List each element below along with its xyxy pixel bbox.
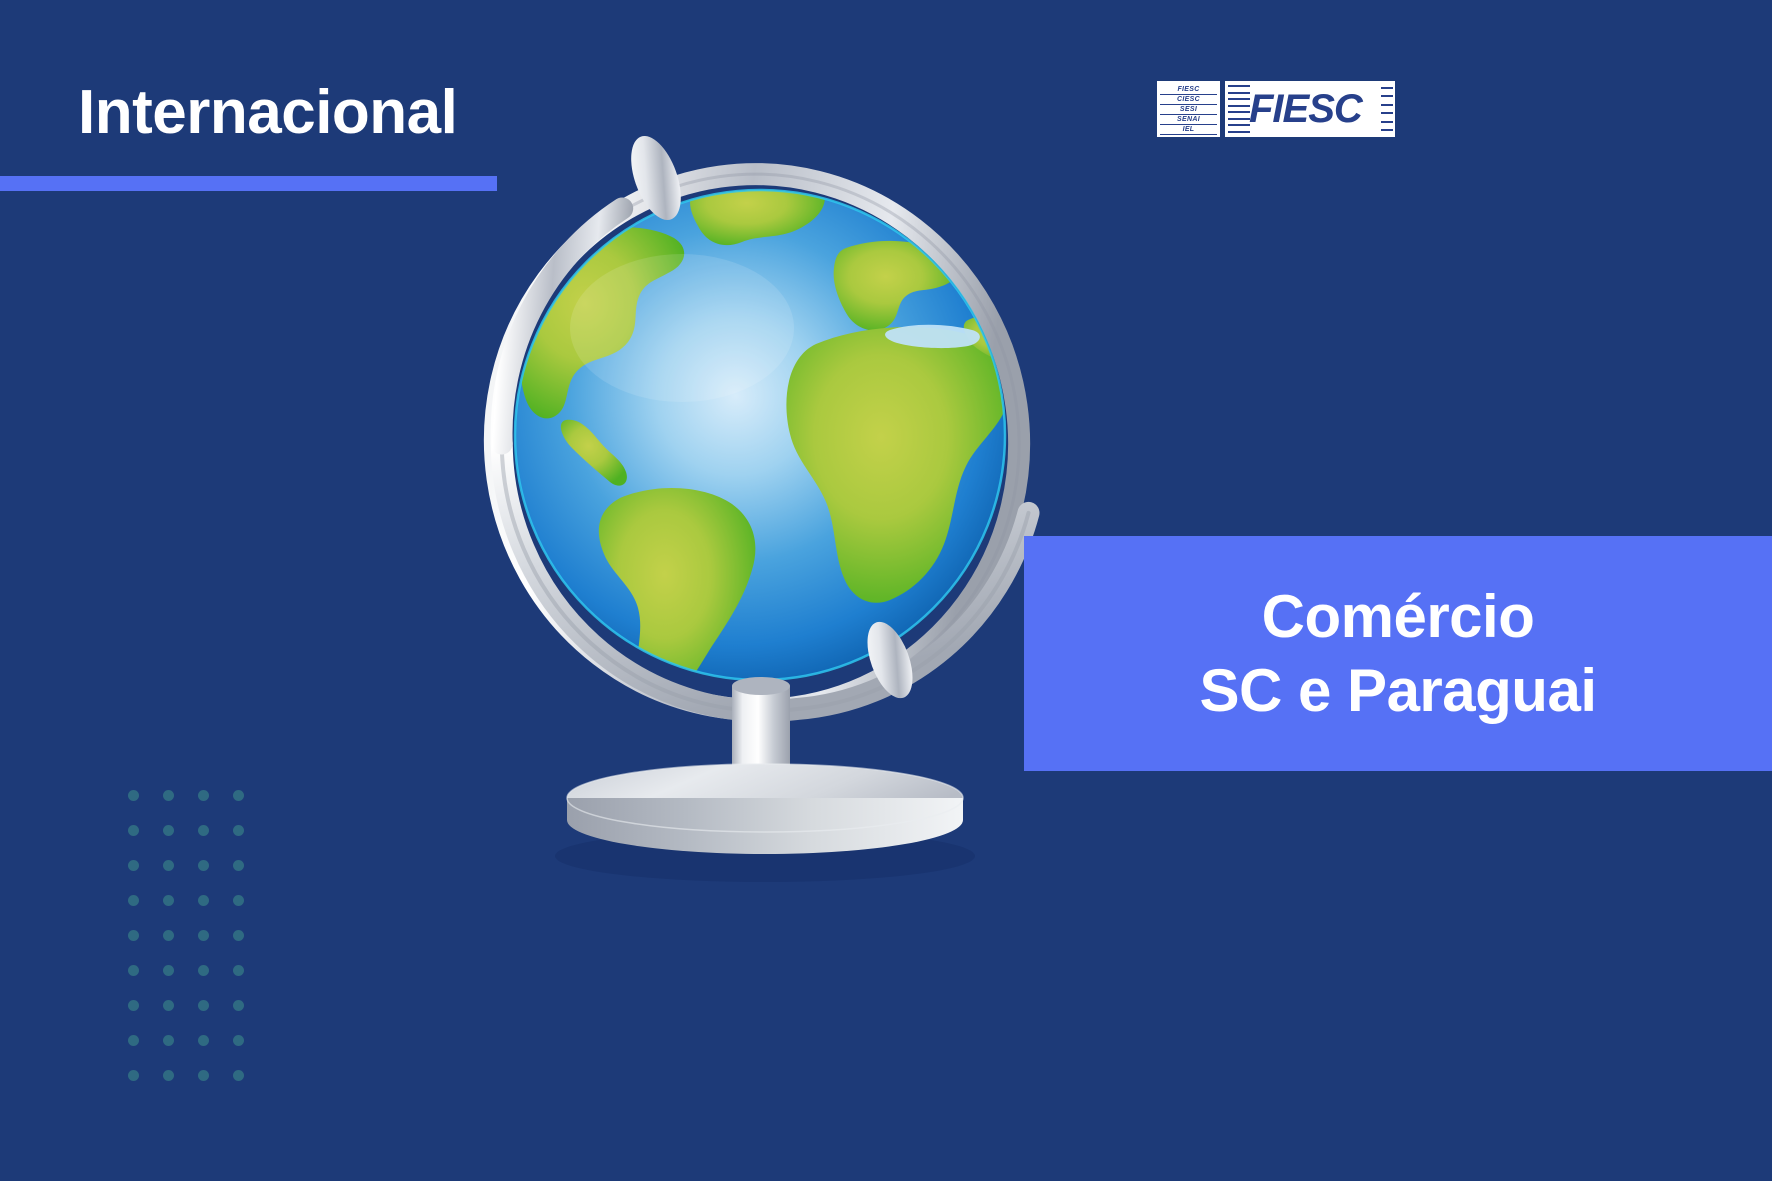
logo-entity-sesi: SESI [1160, 105, 1217, 114]
decorative-dot [163, 930, 174, 941]
decorative-dot [128, 790, 139, 801]
decorative-dot [233, 790, 244, 801]
decorative-dot [233, 1035, 244, 1046]
caption-banner: Comércio SC e Paraguai [1024, 536, 1772, 771]
decorative-dot [128, 930, 139, 941]
decorative-dot [128, 860, 139, 871]
decorative-dot [198, 1070, 209, 1081]
decorative-dot [128, 1035, 139, 1046]
desk-globe-icon [460, 130, 1060, 890]
fiesc-logo-wordmark-panel: FIESC [1225, 81, 1395, 137]
caption-line-2: SC e Paraguai [1199, 654, 1596, 727]
decorative-dot [233, 1070, 244, 1081]
decorative-dot [163, 860, 174, 871]
decorative-dot [163, 825, 174, 836]
decorative-dot [233, 825, 244, 836]
decorative-dot [198, 1000, 209, 1011]
decorative-dot [163, 895, 174, 906]
decorative-dot [198, 860, 209, 871]
decorative-dot [163, 790, 174, 801]
decorative-dot [233, 860, 244, 871]
decorative-dot-grid [128, 790, 244, 1090]
decorative-dot [198, 1035, 209, 1046]
decorative-dot [128, 1070, 139, 1081]
logo-stripes-left-icon [1228, 85, 1250, 133]
poster-canvas: Internacional FIESC CIESC SESI SENAI IEL… [0, 0, 1772, 1181]
decorative-dot [128, 895, 139, 906]
title-underline-rule [0, 176, 497, 191]
logo-entity-fiesc: FIESC [1160, 85, 1217, 94]
logo-entity-senai: SENAI [1160, 115, 1217, 124]
logo-entity-ciesc: CIESC [1160, 95, 1217, 104]
decorative-dot [163, 965, 174, 976]
caption-line-1: Comércio [1262, 580, 1535, 653]
logo-entity-iel: IEL [1160, 125, 1217, 134]
decorative-dot [163, 1000, 174, 1011]
decorative-dot [233, 1000, 244, 1011]
decorative-dot [233, 965, 244, 976]
decorative-dot [128, 1000, 139, 1011]
page-title: Internacional [78, 80, 457, 145]
decorative-dot [198, 930, 209, 941]
logo-wordmark-text: FIESC [1249, 89, 1362, 129]
decorative-dot [198, 790, 209, 801]
decorative-dot [233, 895, 244, 906]
decorative-dot [128, 825, 139, 836]
decorative-dot [163, 1070, 174, 1081]
logo-stripes-right-icon [1381, 87, 1393, 131]
decorative-dot [163, 1035, 174, 1046]
decorative-dot [233, 930, 244, 941]
decorative-dot [198, 965, 209, 976]
decorative-dot [198, 895, 209, 906]
fiesc-logo-entities: FIESC CIESC SESI SENAI IEL [1157, 81, 1220, 137]
fiesc-logo: FIESC CIESC SESI SENAI IEL FIESC [1157, 81, 1395, 137]
decorative-dot [128, 965, 139, 976]
decorative-dot [198, 825, 209, 836]
